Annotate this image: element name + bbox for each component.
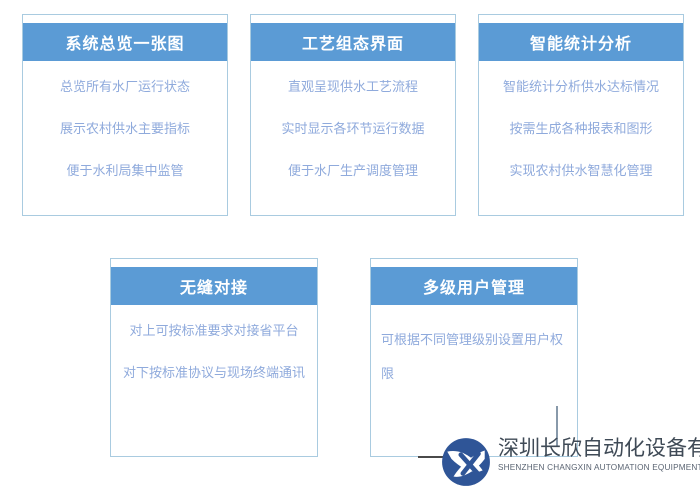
card-line: 展示农村供水主要指标 — [60, 121, 190, 137]
card-line: 便于水利局集中监管 — [66, 163, 183, 179]
card-line: 实时显示各环节运行数据 — [281, 121, 424, 137]
feature-card-docking[interactable]: 无缝对接 对上可按标准要求对接省平台 对下按标准协议与现场终端通讯 — [110, 258, 318, 457]
card-line: 可根据不同管理级别设置用户权限 — [381, 323, 567, 391]
company-name-en: SHENZHEN CHANGXIN AUTOMATION EQUIPMENT C… — [498, 462, 700, 474]
feature-card-analytics[interactable]: 智能统计分析 智能统计分析供水达标情况 按需生成各种报表和图形 实现农村供水智慧… — [478, 14, 684, 216]
card-title-docking: 无缝对接 — [111, 267, 317, 305]
feature-card-overview[interactable]: 系统总览一张图 总览所有水厂运行状态 展示农村供水主要指标 便于水利局集中监管 — [22, 14, 228, 216]
card-title-analytics: 智能统计分析 — [479, 23, 683, 61]
card-body-analytics: 智能统计分析供水达标情况 按需生成各种报表和图形 实现农村供水智慧化管理 — [479, 61, 683, 215]
card-line: 实现农村供水智慧化管理 — [509, 163, 652, 179]
logo-text-block: 深圳长欣自动化设备有限公司 SHENZHEN CHANGXIN AUTOMATI… — [498, 436, 700, 474]
card-line: 总览所有水厂运行状态 — [60, 79, 190, 95]
card-line: 对下按标准协议与现场终端通讯 — [123, 365, 305, 381]
card-body-docking: 对上可按标准要求对接省平台 对下按标准协议与现场终端通讯 — [111, 305, 317, 456]
company-logo: 深圳长欣自动化设备有限公司 SHENZHEN CHANGXIN AUTOMATI… — [418, 428, 700, 483]
slide-canvas: 系统总览一张图 总览所有水厂运行状态 展示农村供水主要指标 便于水利局集中监管 … — [0, 0, 700, 483]
feature-card-process[interactable]: 工艺组态界面 直观呈现供水工艺流程 实时显示各环节运行数据 便于水厂生产调度管理 — [250, 14, 456, 216]
card-body-overview: 总览所有水厂运行状态 展示农村供水主要指标 便于水利局集中监管 — [23, 61, 227, 215]
card-top-strip — [251, 15, 455, 23]
card-title-users: 多级用户管理 — [371, 267, 577, 305]
card-line: 便于水厂生产调度管理 — [288, 163, 418, 179]
card-title-process: 工艺组态界面 — [251, 23, 455, 61]
card-top-strip — [371, 259, 577, 267]
card-top-strip — [23, 15, 227, 23]
card-line: 对上可按标准要求对接省平台 — [129, 323, 298, 339]
card-line: 智能统计分析供水达标情况 — [503, 79, 659, 95]
card-title-overview: 系统总览一张图 — [23, 23, 227, 61]
company-name-cn: 深圳长欣自动化设备有限公司 — [498, 436, 700, 462]
card-line: 直观呈现供水工艺流程 — [288, 79, 418, 95]
card-top-strip — [479, 15, 683, 23]
card-body-process: 直观呈现供水工艺流程 实时显示各环节运行数据 便于水厂生产调度管理 — [251, 61, 455, 215]
circle-x-logo-icon — [440, 436, 492, 488]
card-line: 按需生成各种报表和图形 — [509, 121, 652, 137]
card-top-strip — [111, 259, 317, 267]
